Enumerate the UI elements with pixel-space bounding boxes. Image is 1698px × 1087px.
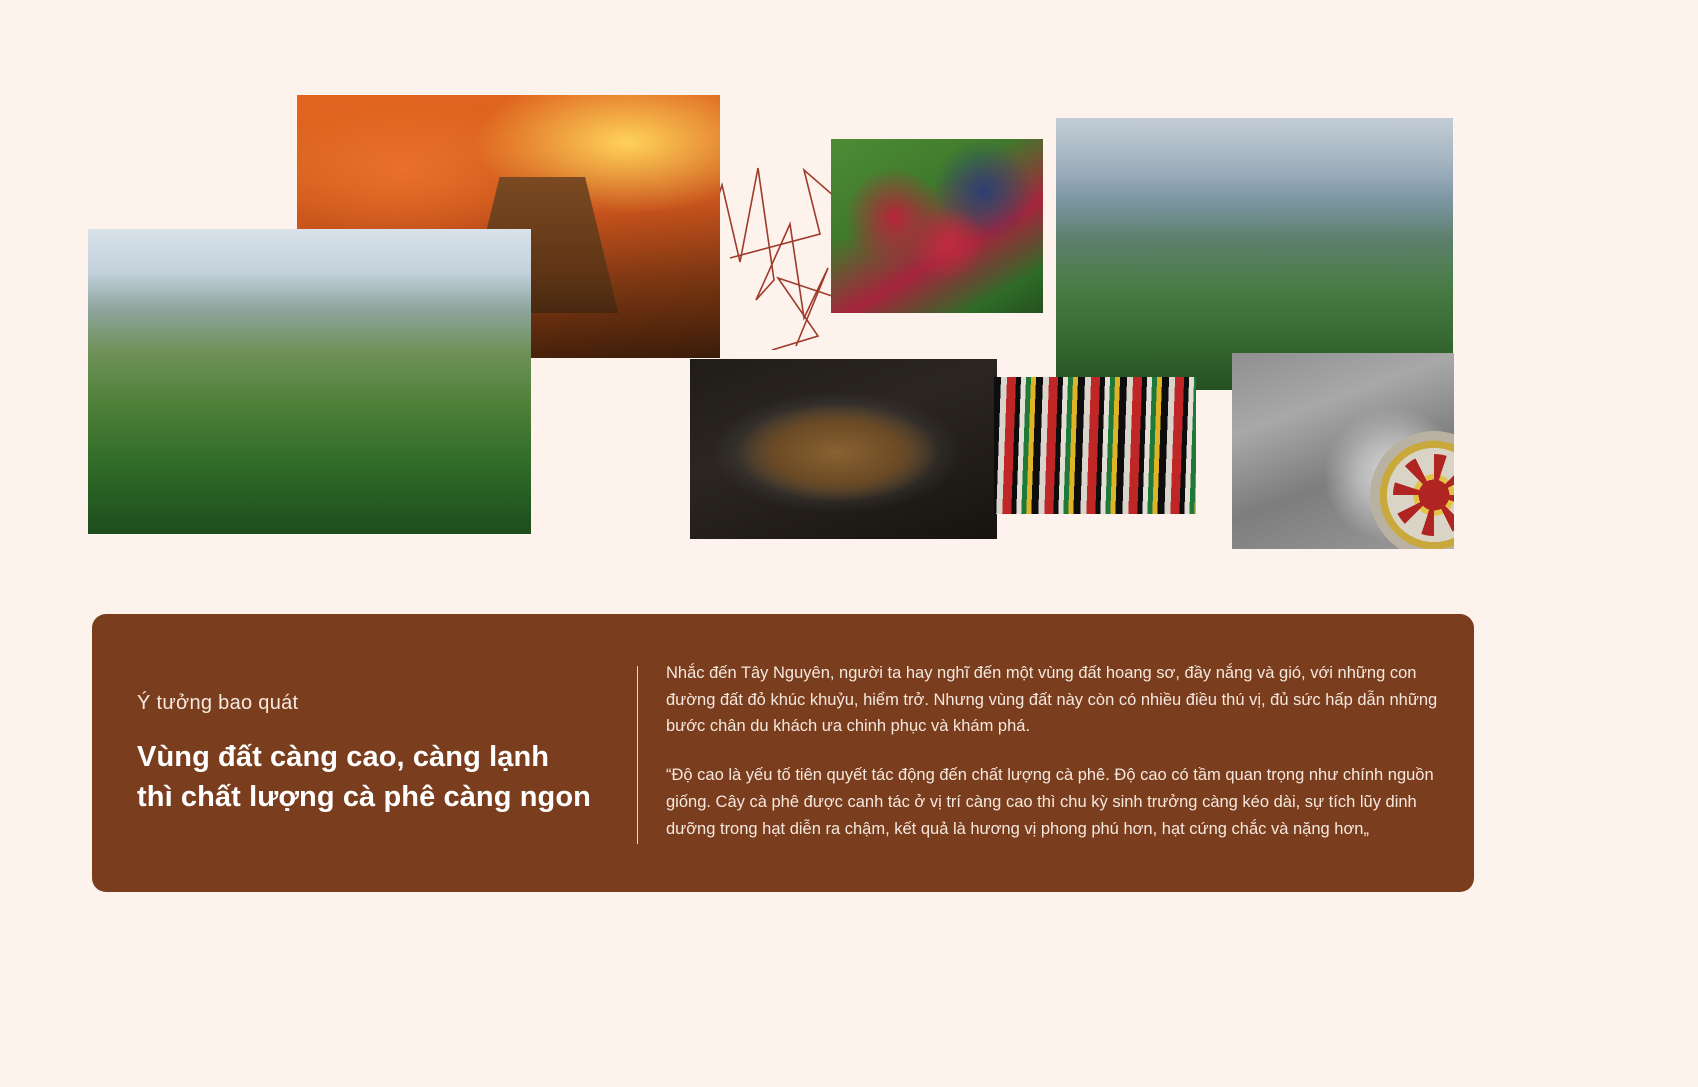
idea-panel: Ý tưởng bao quát Vùng đất càng cao, càng…	[92, 614, 1474, 892]
photo-terraced-rice-valley	[88, 229, 531, 534]
photo-image	[994, 377, 1196, 514]
photo-highland-mountain-range	[1056, 118, 1453, 390]
photo-collage	[0, 0, 1698, 600]
photo-image	[1056, 118, 1453, 390]
idea-panel-right: Nhắc đến Tây Nguyên, người ta hay nghĩ đ…	[638, 614, 1474, 892]
photo-image	[88, 229, 531, 534]
panel-headline-line-2: thì chất lượng cà phê càng ngon	[137, 777, 637, 817]
photo-image	[831, 139, 1043, 313]
photo-image	[1232, 353, 1454, 549]
photo-coffee-cherry-harvest	[831, 139, 1043, 313]
photo-roasting-coffee-beans	[690, 359, 997, 539]
idea-panel-left: Ý tưởng bao quát Vùng đất càng cao, càng…	[92, 614, 637, 892]
photo-image	[690, 359, 997, 539]
panel-headline-line-1: Vùng đất càng cao, càng lạnh	[137, 737, 637, 777]
page-root: Ý tưởng bao quát Vùng đất càng cao, càng…	[0, 0, 1698, 1087]
panel-eyebrow: Ý tưởng bao quát	[137, 692, 637, 715]
panel-headline: Vùng đất càng cao, càng lạnh thì chất lư…	[137, 737, 637, 817]
shield-shape	[1370, 431, 1454, 549]
panel-paragraph-quote: “Độ cao là yếu tố tiên quyết tác động đế…	[666, 762, 1444, 842]
photo-brocade-textile	[994, 377, 1196, 514]
panel-paragraph-intro: Nhắc đến Tây Nguyên, người ta hay nghĩ đ…	[666, 660, 1444, 740]
photo-gong-shield-bw	[1232, 353, 1454, 549]
